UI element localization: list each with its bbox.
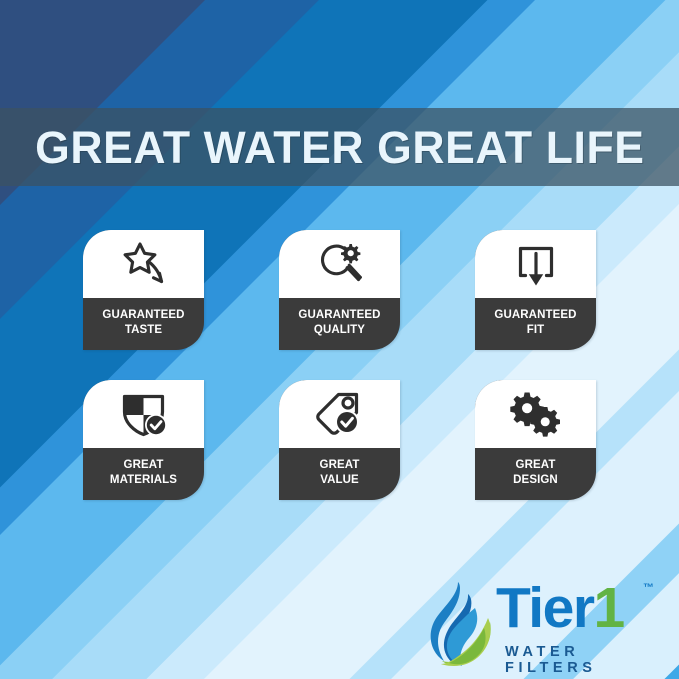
feature-card-great-materials[interactable]: GREAT MATERIALS — [83, 380, 204, 500]
feature-card-row-1: GUARANTEED TASTE — [0, 230, 679, 350]
label-line-2: QUALITY — [314, 323, 365, 338]
label-line-1: GUARANTEED — [494, 308, 576, 323]
feature-card-row-2: GREAT MATERIALS — [0, 380, 679, 500]
feature-card-label: GREAT DESIGN — [475, 448, 596, 500]
shield-check-icon — [83, 380, 204, 448]
feature-card-label: GREAT MATERIALS — [83, 448, 204, 500]
promo-poster: GREAT WATER GREAT LIFE GUARANTE — [0, 0, 679, 679]
water-drop-leaf-icon — [424, 578, 496, 670]
feature-card-great-value[interactable]: GREAT VALUE — [279, 380, 400, 500]
brand-wordmark: Tier1 — [496, 580, 624, 637]
label-line-1: GREAT — [320, 458, 360, 473]
label-line-1: GUARANTEED — [102, 308, 184, 323]
headline-banner: GREAT WATER GREAT LIFE — [0, 108, 679, 186]
feature-card-label: GUARANTEED FIT — [475, 298, 596, 350]
label-line-2: TASTE — [125, 323, 162, 338]
feature-card-guaranteed-fit[interactable]: GUARANTEED FIT — [475, 230, 596, 350]
feature-card-label: GREAT VALUE — [279, 448, 400, 500]
feature-card-great-design[interactable]: GREAT DESIGN — [475, 380, 596, 500]
label-line-1: GREAT — [124, 458, 164, 473]
magnifier-gear-icon — [279, 230, 400, 298]
brand-tagline: WATER FILTERS — [505, 644, 664, 676]
label-line-1: GUARANTEED — [298, 308, 380, 323]
gears-icon — [475, 380, 596, 448]
feature-card-label: GUARANTEED TASTE — [83, 298, 204, 350]
insert-arrow-icon — [475, 230, 596, 298]
brand-number: 1 — [594, 576, 624, 640]
price-tag-check-icon — [279, 380, 400, 448]
feature-card-grid: GUARANTEED TASTE — [0, 230, 679, 500]
feature-card-guaranteed-quality[interactable]: GUARANTEED QUALITY — [279, 230, 400, 350]
label-line-2: FIT — [527, 323, 545, 338]
headline-text: GREAT WATER GREAT LIFE — [35, 125, 645, 170]
label-line-1: GREAT — [516, 458, 556, 473]
feature-card-label: GUARANTEED QUALITY — [279, 298, 400, 350]
brand-name: Tier — [496, 576, 594, 640]
label-line-2: MATERIALS — [110, 473, 177, 488]
brand-logo: Tier1 ™ WATER FILTERS — [424, 578, 664, 670]
label-line-2: VALUE — [320, 473, 359, 488]
trademark-symbol: ™ — [643, 582, 654, 594]
label-line-2: DESIGN — [513, 473, 558, 488]
feature-card-guaranteed-taste[interactable]: GUARANTEED TASTE — [83, 230, 204, 350]
shooting-star-icon — [83, 230, 204, 298]
